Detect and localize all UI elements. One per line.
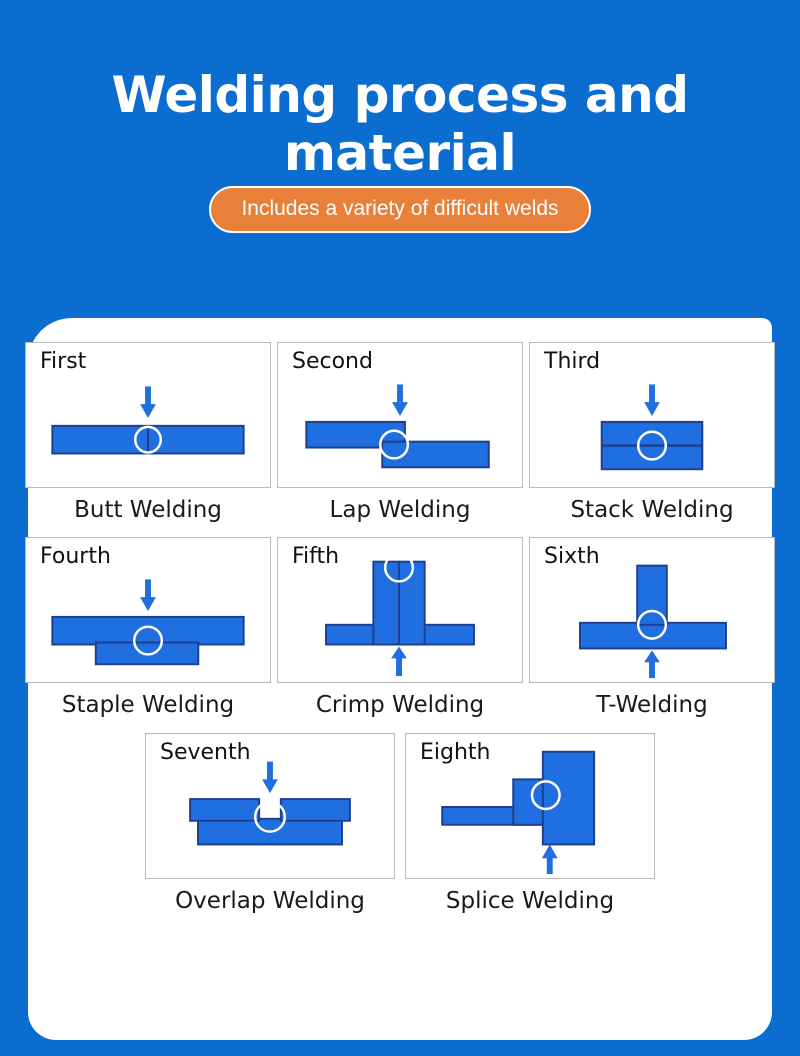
diagram-card-butt[interactable]: First: [25, 342, 271, 488]
card-cell-lap: Second Lap Welding: [277, 342, 523, 537]
card-cell-splice: Eighth Splice Welding: [405, 733, 655, 928]
up-arrow-icon: [391, 647, 407, 677]
down-arrow-icon: [262, 761, 278, 793]
plate-tall-block: [543, 751, 594, 844]
plate-horizontal: [580, 623, 726, 649]
header-banner: Welding process and material Includes a …: [0, 0, 800, 320]
diagram-card-crimp[interactable]: Fifth: [277, 537, 523, 683]
card-cell-stack: Third Stack Welding: [529, 342, 775, 537]
card-cell-overlap: Seventh Overlap Welding: [145, 733, 395, 928]
badge-container: Includes a variety of difficult welds: [0, 186, 800, 233]
plate-upper-right: [281, 799, 350, 821]
diagram-card-overlap[interactable]: Seventh: [145, 733, 395, 879]
card-ordinal-label: Eighth: [420, 742, 491, 764]
diagram-card-splice[interactable]: Eighth: [405, 733, 655, 879]
card-cell-butt: First Butt Welding: [25, 342, 271, 537]
down-arrow-icon: [644, 384, 660, 416]
down-arrow-icon: [392, 384, 408, 416]
card-cell-crimp: Fifth Crimp Welding: [277, 537, 523, 732]
card-cell-staple: Fourth Staple Welding: [25, 537, 271, 732]
plate-top-wide: [52, 617, 243, 645]
plate-lower-right: [382, 442, 489, 468]
diagram-card-staple[interactable]: Fourth: [25, 537, 271, 683]
card-caption: Crimp Welding: [316, 693, 484, 732]
card-row-2: Fourth Staple Welding Fifth: [18, 537, 782, 732]
diagram-card-stack[interactable]: Third: [529, 342, 775, 488]
card-caption: Butt Welding: [74, 498, 222, 537]
card-caption: Stack Welding: [570, 498, 733, 537]
card-caption: Staple Welding: [62, 693, 234, 732]
card-caption: Overlap Welding: [175, 889, 365, 928]
diagram-card-tweld[interactable]: Sixth: [529, 537, 775, 683]
card-caption: Lap Welding: [330, 498, 471, 537]
down-arrow-icon: [140, 386, 156, 418]
card-ordinal-label: Fifth: [292, 546, 339, 568]
card-ordinal-label: Fourth: [40, 546, 111, 568]
page-title: Welding process and material: [0, 66, 800, 182]
down-arrow-icon: [140, 580, 156, 612]
content-panel: First Butt Welding Second: [28, 318, 772, 1040]
card-ordinal-label: Seventh: [160, 742, 251, 764]
card-grid: First Butt Welding Second: [18, 342, 782, 928]
card-row-1: First Butt Welding Second: [18, 342, 782, 537]
plate-upper-left: [190, 799, 259, 821]
up-arrow-icon: [644, 651, 660, 679]
up-arrow-icon: [542, 844, 558, 874]
card-caption: Splice Welding: [446, 889, 614, 928]
card-caption: T-Welding: [596, 693, 707, 732]
diagram-card-lap[interactable]: Second: [277, 342, 523, 488]
card-row-3: Seventh Overlap Welding: [18, 733, 782, 928]
card-cell-tweld: Sixth T-Welding: [529, 537, 775, 732]
subtitle-badge: Includes a variety of difficult welds: [209, 186, 590, 233]
card-ordinal-label: Sixth: [544, 546, 600, 568]
card-ordinal-label: Third: [544, 351, 600, 373]
card-ordinal-label: First: [40, 351, 86, 373]
card-ordinal-label: Second: [292, 351, 373, 373]
